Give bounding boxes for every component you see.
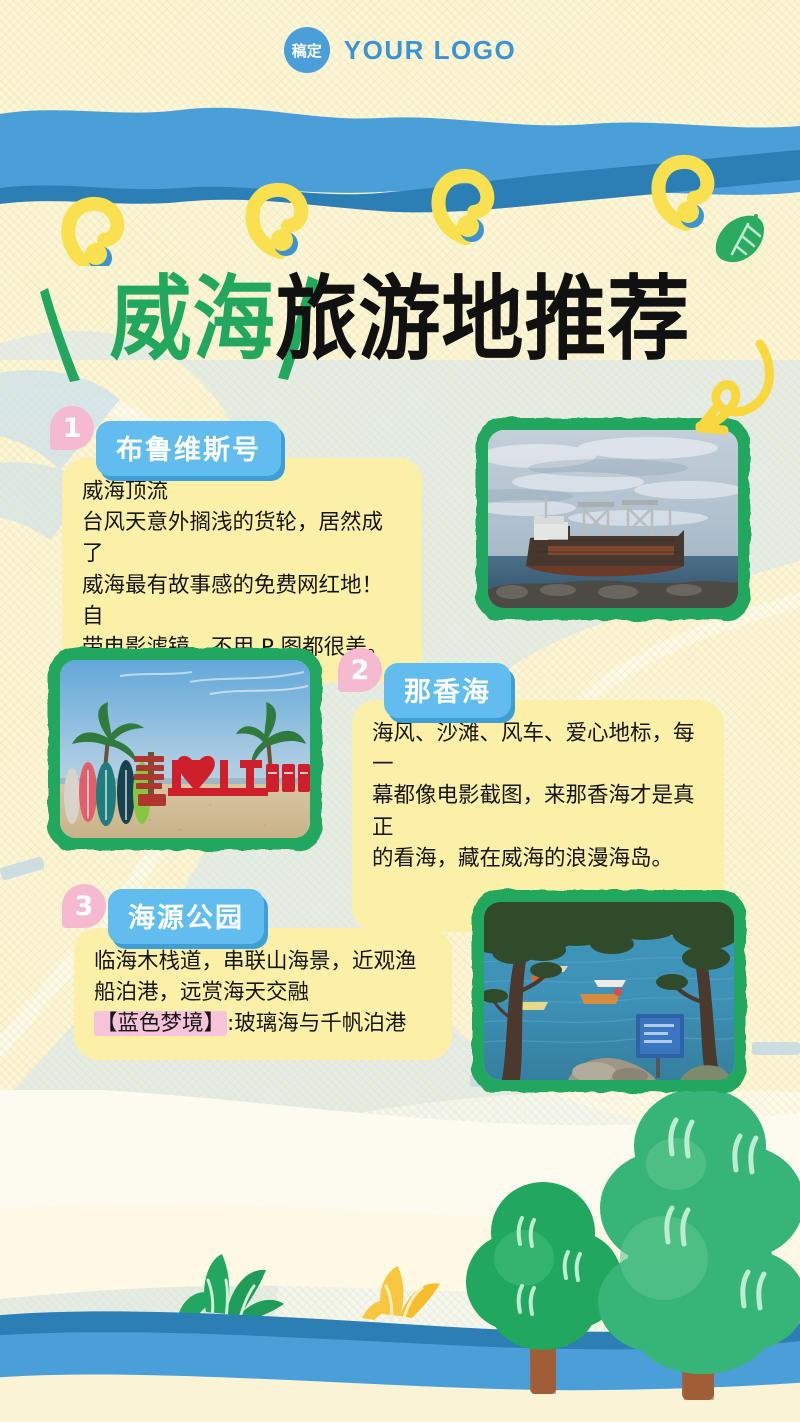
torn-blue-paper-band [0,96,800,266]
photo-haiyuan-park[interactable] [472,890,746,1092]
page-title-green-part: 威海 [109,267,275,373]
page-title-black-part: 旅游地推荐 [276,267,691,373]
leaf-icon [706,208,772,270]
section-badge-2: 2 [338,648,382,692]
curly-arrow-down-icon [652,334,782,450]
poster-canvas: 稿定 YOUR LOGO [0,0,800,1422]
photo-image-2 [60,660,310,838]
card-line: 台风天意外搁浅的货轮，居然成了 [82,507,402,569]
card-line: 威海最有故事感的免费网红地！自 [82,570,402,632]
logo-text: YOUR LOGO [344,35,516,66]
card-line-highlighted: 【蓝色梦境】:玻璃海与千帆泊港 [94,1008,432,1039]
section-label-1[interactable]: 布鲁维斯号 [96,421,281,476]
photo-image-1 [488,430,738,608]
highlight-suffix: :玻璃海与千帆泊港 [227,1011,406,1036]
logo-badge[interactable]: 稿定 [284,27,330,73]
section-badge-number-2: 2 [351,655,370,686]
card-line: 威海顶流 [82,476,402,507]
card-line: 的看海，藏在威海的浪漫海岛。 [372,843,704,874]
section-badge-number-3: 3 [75,891,94,922]
card-line: 船泊港，远赏海天交融 [94,977,432,1008]
section-badge-3: 3 [62,884,106,928]
section-badge-number-1: 1 [63,413,82,444]
header-bar: 稿定 YOUR LOGO [0,0,800,100]
photo-naxianghai-beach[interactable] [48,648,322,850]
section-card-3: 临海木栈道，串联山海景，近观渔 船泊港，远赏海天交融 【蓝色梦境】:玻璃海与千帆… [74,928,452,1060]
logo-badge-text: 稿定 [292,40,322,61]
section-label-2[interactable]: 那香海 [384,663,511,718]
section-badge-1: 1 [50,406,94,450]
card-line: 幕都像电影截图，来那香海才是真正 [372,780,704,842]
card-line: 海风、沙滩、风车、爱心地标，每一 [372,718,704,780]
photo-image-3 [484,902,734,1080]
card-line: 临海木栈道，串联山海景，近观渔 [94,946,432,977]
bottom-scene-illustration [0,1090,800,1422]
highlight-text: 【蓝色梦境】 [94,1011,227,1036]
section-label-3[interactable]: 海源公园 [108,889,264,944]
